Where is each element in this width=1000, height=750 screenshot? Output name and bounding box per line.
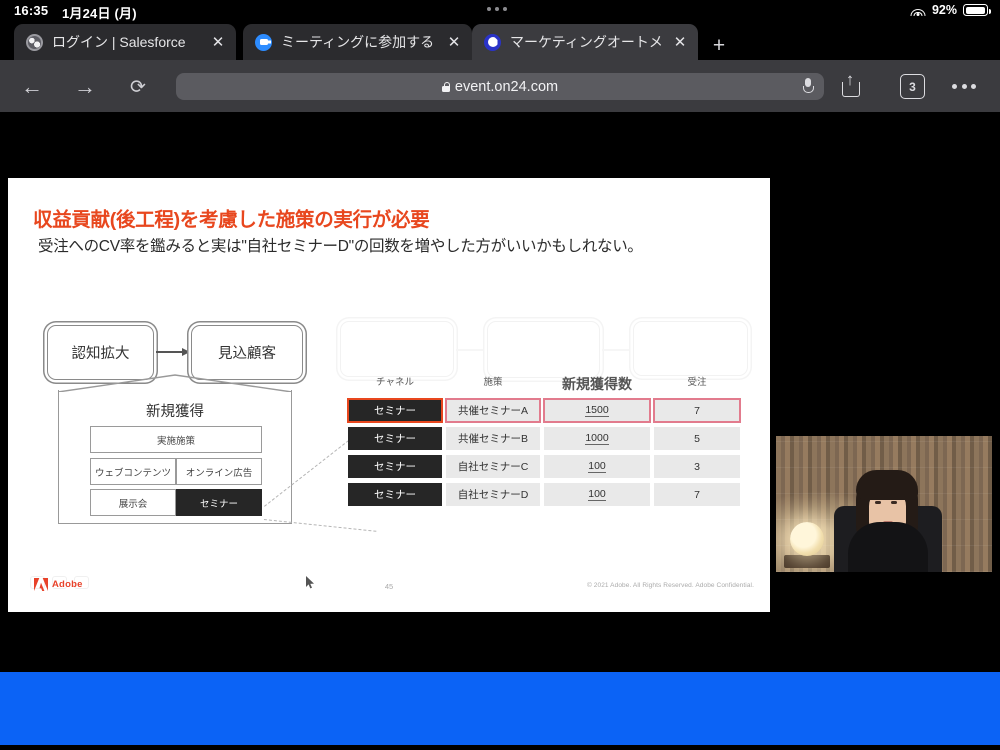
cell-orders: 7 [654,399,740,422]
cell-orders: 5 [654,427,740,450]
presenter-video-frame [776,436,992,572]
flow-box-awareness: 認知拡大 [47,325,154,380]
ghost-flow-arrow-1-icon [456,349,485,351]
tab-zoom-meeting[interactable]: ミーティングに参加する - Z ✕ [243,24,472,60]
share-icon[interactable] [838,75,862,99]
ghost-flow-arrow-2-icon [602,349,631,351]
browser-tab-strip: ログイン | Salesforce ✕ ミーティングに参加する - Z ✕ マー… [0,22,1000,60]
cell-new-acquisitions: 100 [544,455,650,478]
slide-subtitle: 受注へのCV率を鑑みると実は"自社セミナーD"の回数を増やした方がいいかもしれな… [38,234,643,256]
status-right-cluster: 92% [910,3,988,17]
presenter-video-panel[interactable] [772,430,996,578]
ios-status-bar: 16:35 1月24日 (月) 92% [0,0,1000,22]
lamp-icon [790,522,824,556]
lock-icon [442,82,450,92]
presenter-hair-front [856,470,918,500]
tab-close-icon[interactable]: ✕ [670,33,690,51]
cell-orders: 7 [654,483,740,506]
more-dots-icon [487,7,507,11]
cell-new-acquisitions: 1500 [544,399,650,422]
browser-toolbar: ← → ⟳ event.on24.com 3 [0,60,1000,112]
on24-icon [484,34,501,51]
table-row: セミナー 共催セミナーA 1500 7 [348,399,740,422]
table-row: セミナー 自社セミナーD 100 7 [348,483,740,506]
column-header-measure: 施策 [446,374,540,394]
status-date: 1月24日 (月) [62,3,137,22]
funnel-item-measures: 実施施策 [90,426,262,453]
mouse-cursor-icon [306,576,315,589]
cell-channel: セミナー [348,483,442,506]
url-text: event.on24.com [455,79,558,95]
cell-measure: 共催セミナーA [446,399,540,422]
tab-salesforce[interactable]: ログイン | Salesforce ✕ [14,24,236,60]
tab-title: マーケティングオートメーショ [510,32,661,52]
screen: 16:35 1月24日 (月) 92% ログイン | Salesforce ✕ … [0,0,1000,750]
tab-count-button[interactable]: 3 [900,74,925,99]
presenter-body [848,522,928,572]
tab-title-suffix: - Z [434,34,435,50]
tab-marketing-automation[interactable]: マーケティングオートメーショ ✕ [472,24,698,60]
forward-icon[interactable]: → [71,73,99,101]
bottom-blue-band [0,672,1000,745]
results-table: チャネル 施策 新規獲得数 受注 セミナー 共催セミナーA 1500 7 セミナ… [348,374,740,506]
ghost-flow-box-2 [487,321,600,378]
cell-measure: 共催セミナーB [446,427,540,450]
cell-measure: 自社セミナーC [446,455,540,478]
funnel-item-online-ads: オンライン広告 [176,458,262,485]
column-header-orders: 受注 [654,374,740,394]
column-header-new-acquisitions: 新規獲得数 [544,374,650,394]
tab-close-icon[interactable]: ✕ [208,33,228,51]
connector-line-bottom [264,519,376,532]
funnel-item-web-content: ウェブコンテンツ [90,458,176,485]
tab-title: ログイン | Salesforce [52,32,199,52]
zoom-camera-icon [255,34,272,51]
tab-close-icon[interactable]: ✕ [444,33,464,51]
address-bar[interactable]: event.on24.com [176,73,824,100]
webinar-viewport: 収益貢献(後工程)を考慮した施策の実行が必要 受注へのCV率を鑑みると実は"自社… [0,112,1000,672]
cell-orders: 3 [654,455,740,478]
flow-arrow-icon [156,351,189,353]
battery-percent: 92% [932,3,957,17]
status-time: 16:35 [14,3,48,18]
battery-icon [963,4,988,16]
new-tab-button[interactable]: + [709,34,729,58]
column-header-channel: チャネル [348,374,442,394]
globe-icon [26,34,43,51]
table-row: セミナー 共催セミナーB 1000 5 [348,427,740,450]
cell-new-acquisitions: 100 [544,483,650,506]
cell-measure: 自社セミナーD [446,483,540,506]
cell-channel: セミナー [348,427,442,450]
ghost-flow-box-3 [633,321,748,376]
presentation-slide[interactable]: 収益貢献(後工程)を考慮した施策の実行が必要 受注へのCV率を鑑みると実は"自社… [8,178,770,612]
table-row: セミナー 自社セミナーC 100 3 [348,455,740,478]
table-header-row: チャネル 施策 新規獲得数 受注 [348,374,740,394]
funnel-item-seminar: セミナー [176,489,262,516]
cell-channel: セミナー [348,455,442,478]
microphone-icon[interactable] [803,78,812,95]
lamp-base [784,555,830,568]
wifi-icon [910,4,926,16]
funnel-item-exhibition: 展示会 [90,489,176,516]
bottom-edge [0,745,1000,750]
funnel-title: 新規獲得 [58,400,292,421]
slide-copyright: © 2021 Adobe. All Rights Reserved. Adobe… [587,582,754,589]
reload-icon[interactable]: ⟳ [124,73,152,101]
cell-channel: セミナー [348,399,442,422]
back-icon[interactable]: ← [18,73,46,101]
presenter-eye-left [875,501,881,504]
presenter-eye-right [891,501,897,504]
more-dots-icon[interactable] [952,84,976,89]
ghost-flow-box-1 [340,321,454,377]
cell-new-acquisitions: 1000 [544,427,650,450]
flow-box-prospect: 見込顧客 [191,325,303,380]
slide-title: 収益貢献(後工程)を考慮した施策の実行が必要 [33,203,429,232]
tab-title: ミーティングに参加する - Z [281,32,435,52]
